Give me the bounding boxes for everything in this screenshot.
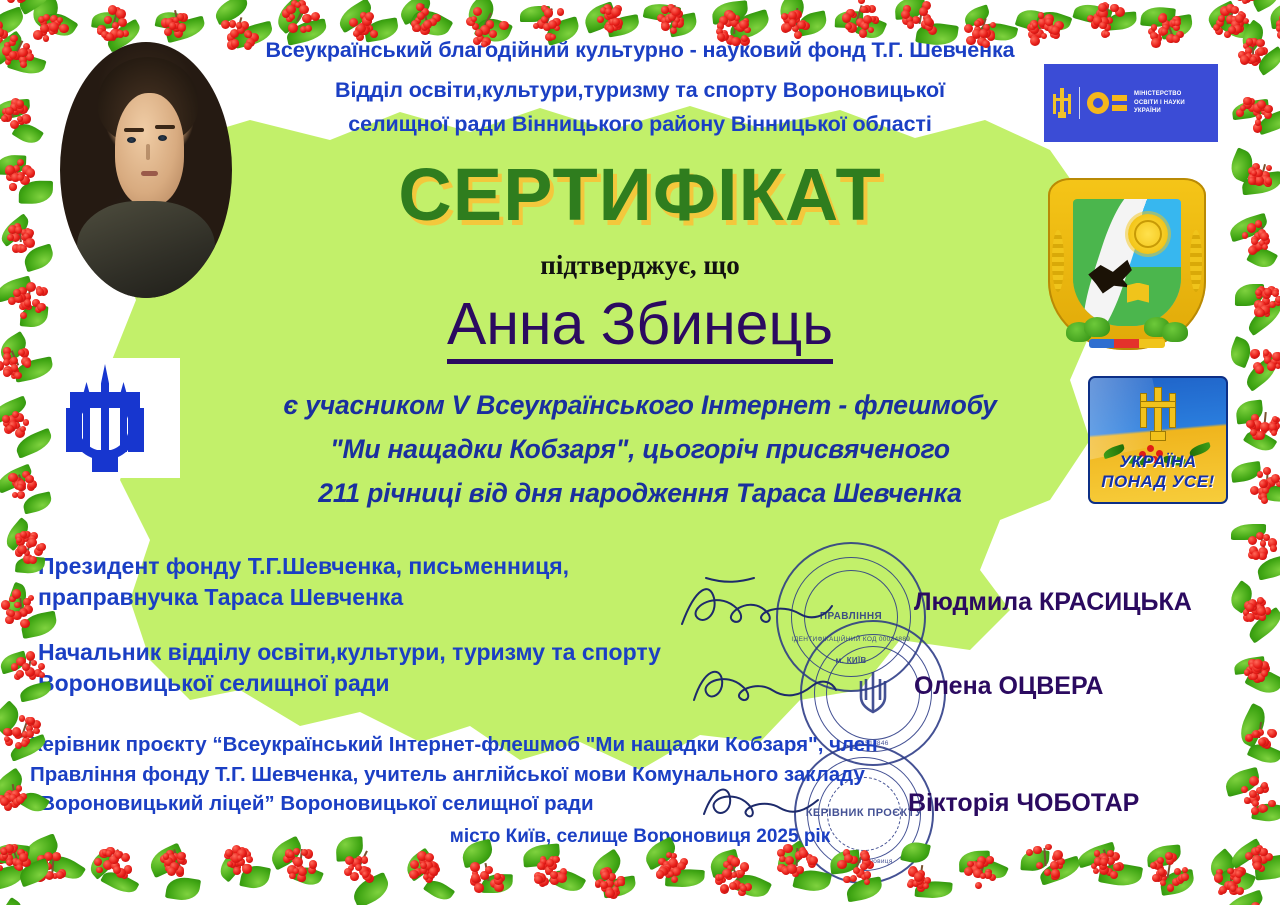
book-icon [1127,283,1149,303]
signer-name-head-of-department: Олена ОЦВЕРА [914,672,1104,701]
badge-line-2: ПОНАД УСЕ! [1090,472,1226,492]
trident-icon [1138,388,1178,440]
vinnytsia-district-coat-of-arms [1048,178,1206,350]
header-line-1: Всеукраїнський благодійний культурно - н… [0,38,1280,63]
sun-icon [1128,214,1168,254]
signer-name-project-leader: Вікторія ЧОБОТАР [908,789,1139,818]
badge-line-1: УКРАЇНА [1090,452,1226,472]
ministry-text-line1: МІНІСТЕРСТВО [1134,90,1185,99]
signer-role-project-leader: Керівник проєкту “Всеукраїнський Інтерне… [30,730,930,819]
signer-name-president: Людмила КРАСИЦЬКА [914,588,1192,617]
trident-icon [1052,88,1072,118]
shevchenko-portrait [60,42,232,298]
ministry-text-line2: ОСВІТИ І НАУКИ [1134,99,1185,108]
ukraine-above-all-badge: УКРАЇНА ПОНАД УСЕ! [1088,376,1228,504]
divider [1079,87,1080,119]
recipient-name-text: Анна Збинець [447,291,833,364]
ob-mark-icon [1087,92,1127,114]
ministry-text-line3: УКРАЇНИ [1134,107,1185,116]
signer-role-head-of-department: Начальник відділу освіти,культури, туриз… [38,637,738,699]
shevchenko-fund-emblem [58,358,180,478]
certificate-page: ПРАВЛІННЯ ІДЕНТИФІКАЦІЙНИЙ КОД 00034889 … [0,0,1280,905]
signer-role-president: Президент фонду Т.Г.Шевченка, письменниц… [38,551,698,613]
ministry-of-education-logo: МІНІСТЕРСТВО ОСВІТИ І НАУКИ УКРАЇНИ [1044,64,1218,142]
ministry-logo-text: МІНІСТЕРСТВО ОСВІТИ І НАУКИ УКРАЇНИ [1134,90,1185,116]
footer-place-and-year: місто Київ, селище Вороновиця 2025 рік [0,826,1280,848]
